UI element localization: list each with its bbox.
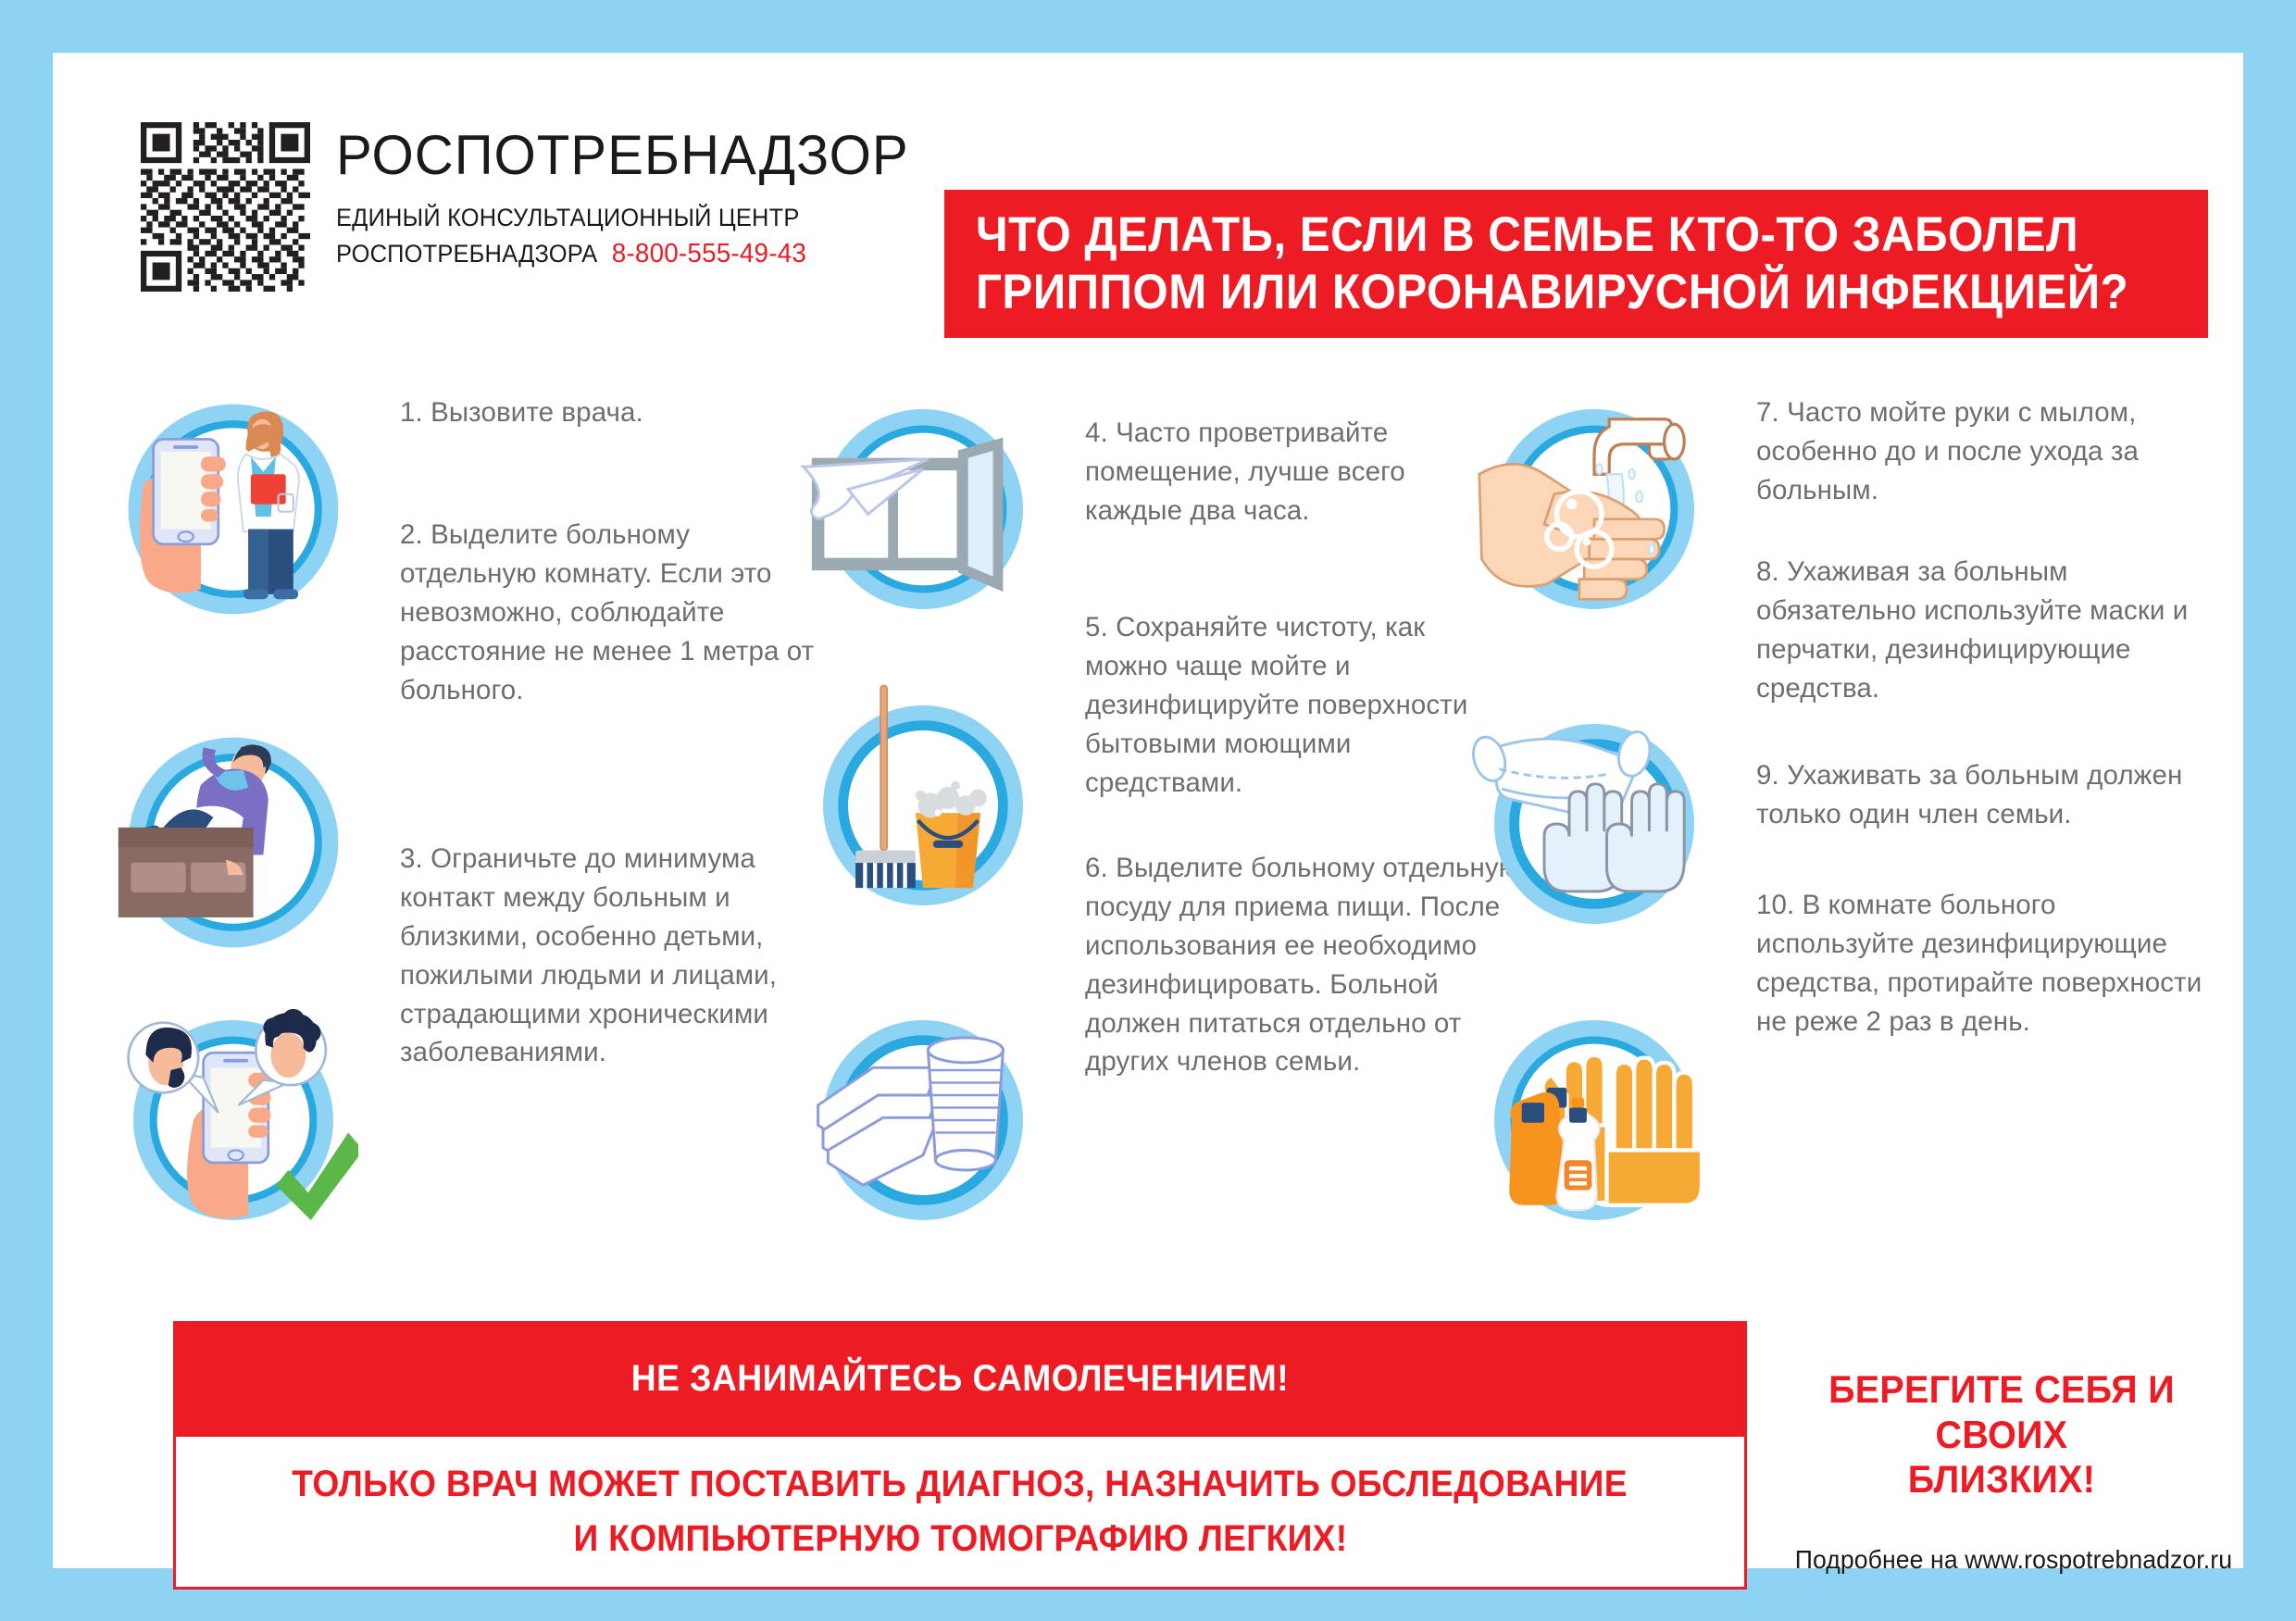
warning-banner-top: НЕ ЗАНИМАЙТЕСЬ САМОЛЕЧЕНИЕМ! bbox=[173, 1321, 1747, 1437]
step-item-8: 8. Ухаживая за больным обязательно испол… bbox=[1756, 553, 2191, 708]
warning-bottom-line-2: И КОМПЬЮТЕРНУЮ ТОМОГРАФИЮ ЛЕГКИХ! bbox=[573, 1518, 1347, 1560]
brand-subtitle-line1: ЕДИНЫЙ КОНСУЛЬТАЦИОННЫЙ ЦЕНТР bbox=[336, 202, 903, 234]
phone-video-call-checkmark-icon bbox=[108, 995, 358, 1245]
steps-column-2: 4. Часто проветривайте помещение, лучше … bbox=[798, 368, 1502, 1303]
warning-top-text: НЕ ЗАНИМАЙТЕСЬ САМОЛЕЧЕНИЕМ! bbox=[631, 1358, 1289, 1400]
mask-and-gloves-icon bbox=[1469, 699, 1719, 949]
disinfectant-bottles-gloves-icon bbox=[1469, 995, 1719, 1245]
title-banner: ЧТО ДЕЛАТЬ, ЕСЛИ В СЕМЬЕ КТО-ТО ЗАБОЛЕЛ … bbox=[944, 190, 2208, 338]
poster-canvas: РОСПОТРЕБНАДЗОР ЕДИНЫЙ КОНСУЛЬТАЦИОННЫЙ … bbox=[53, 53, 2243, 1568]
step-item-5: 5. Сохраняйте чистоту, как можно чаще мо… bbox=[1085, 608, 1511, 802]
closing-block: БЕРЕГИТЕ СЕБЯ И СВОИХ БЛИЗКИХ! Подробнее… bbox=[1784, 1367, 2219, 1575]
qr-code-icon bbox=[141, 122, 310, 292]
steps-content: 1. Вызовите врача. 2. Выделите больному … bbox=[53, 368, 2243, 1303]
steps-column-1: 1. Вызовите врача. 2. Выделите больному … bbox=[108, 368, 840, 1303]
poster-header: РОСПОТРЕБНАДЗОР ЕДИНЫЙ КОНСУЛЬТАЦИОННЫЙ … bbox=[53, 53, 2243, 303]
warning-banner-bottom: ТОЛЬКО ВРАЧ МОЖЕТ ПОСТАВИТЬ ДИАГНОЗ, НАЗ… bbox=[173, 1437, 1747, 1590]
person-resting-on-sofa-icon bbox=[108, 717, 358, 967]
step-item-7: 7. Часто мойте руки с мылом, особенно до… bbox=[1756, 393, 2210, 510]
warning-bottom-line-1: ТОЛЬКО ВРАЧ МОЖЕТ ПОСТАВИТЬ ДИАГНОЗ, НАЗ… bbox=[293, 1464, 1628, 1505]
hotline-phone[interactable]: 8-800-555-49-43 bbox=[612, 239, 806, 268]
brand-block: РОСПОТРЕБНАДЗОР ЕДИНЫЙ КОНСУЛЬТАЦИОННЫЙ … bbox=[141, 122, 927, 292]
step-item-4: 4. Часто проветривайте помещение, лучше … bbox=[1085, 414, 1502, 530]
step-item-9: 9. Ухаживать за больным должен только од… bbox=[1756, 756, 2201, 834]
closing-line-2: БЛИЗКИХ! bbox=[1797, 1457, 2206, 1503]
step-item-2: 2. Выделите больному отдельную комнату. … bbox=[400, 516, 826, 709]
step-item-1: 1. Вызовите врача. bbox=[400, 393, 826, 432]
disposable-tableware-icon bbox=[798, 995, 1048, 1245]
step-item-3: 3. Ограничьте до минимума контакт между … bbox=[400, 840, 812, 1072]
handwashing-faucet-icon bbox=[1469, 384, 1719, 634]
title-line-1: ЧТО ДЕЛАТЬ, ЕСЛИ В СЕМЬЕ КТО-ТО ЗАБОЛЕЛ bbox=[976, 206, 2092, 264]
phone-call-doctor-icon bbox=[108, 384, 358, 634]
step-item-6: 6. Выделите больному отдельную посуду дл… bbox=[1085, 849, 1520, 1081]
title-line-2: ГРИППОМ ИЛИ КОРОНАВИРУСНОЙ ИНФЕКЦИЕЙ? bbox=[976, 264, 2092, 321]
steps-column-3: 7. Часто мойте руки с мылом, особенно до… bbox=[1469, 368, 2210, 1303]
step-item-10: 10. В комнате больного используйте дезин… bbox=[1756, 886, 2210, 1041]
brand-text-block: РОСПОТРЕБНАДЗОР ЕДИНЫЙ КОНСУЛЬТАЦИОННЫЙ … bbox=[336, 122, 927, 272]
broom-and-bucket-icon bbox=[798, 680, 1048, 930]
brand-subtitle-line2: РОСПОТРЕБНАДЗОРА8-800-555-49-43 bbox=[336, 236, 903, 272]
brand-title: РОСПОТРЕБНАДЗОР bbox=[336, 128, 909, 183]
open-window-ventilation-icon bbox=[798, 384, 1048, 634]
closing-line-1: БЕРЕГИТЕ СЕБЯ И СВОИХ bbox=[1797, 1367, 2206, 1457]
more-info-url[interactable]: Подробнее на www.rospotrebnadzor.ru bbox=[1795, 1545, 2209, 1575]
warning-box: НЕ ЗАНИМАЙТЕСЬ САМОЛЕЧЕНИЕМ! ТОЛЬКО ВРАЧ… bbox=[173, 1321, 1747, 1590]
